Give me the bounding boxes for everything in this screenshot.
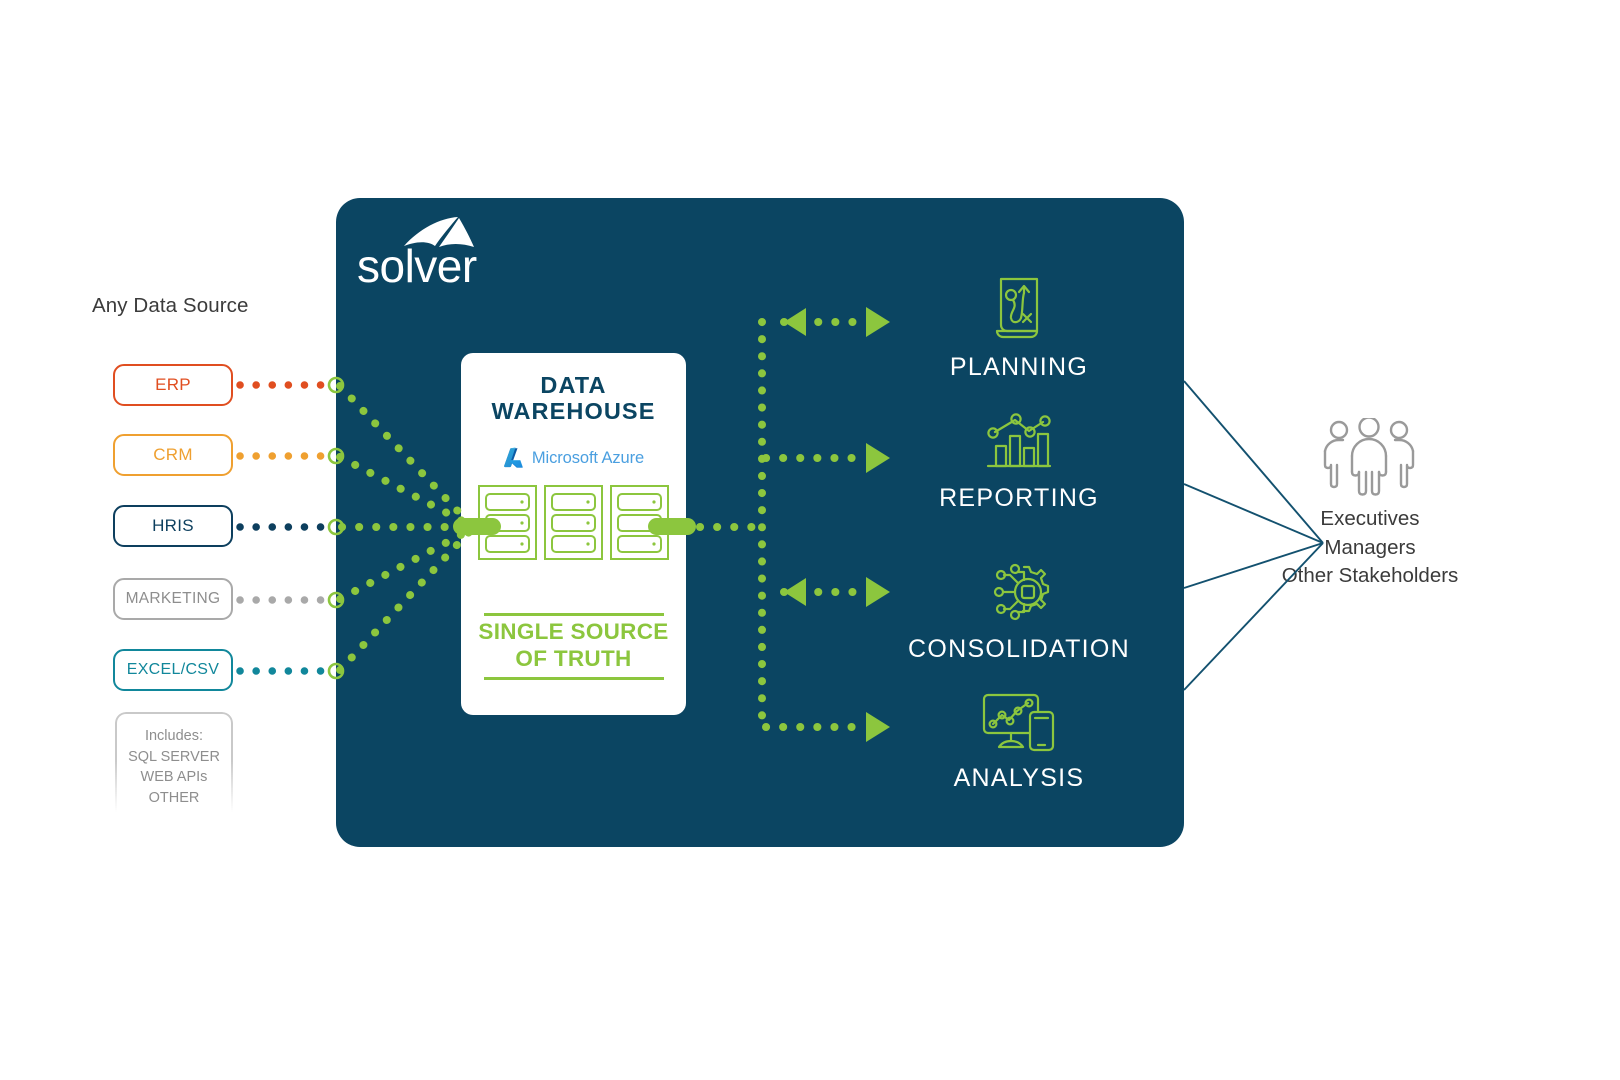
stakeholder-connector-lines	[0, 0, 1620, 1080]
diagram-canvas: Any Data Source ERP CRM HRIS MARKETING E…	[0, 0, 1620, 1080]
